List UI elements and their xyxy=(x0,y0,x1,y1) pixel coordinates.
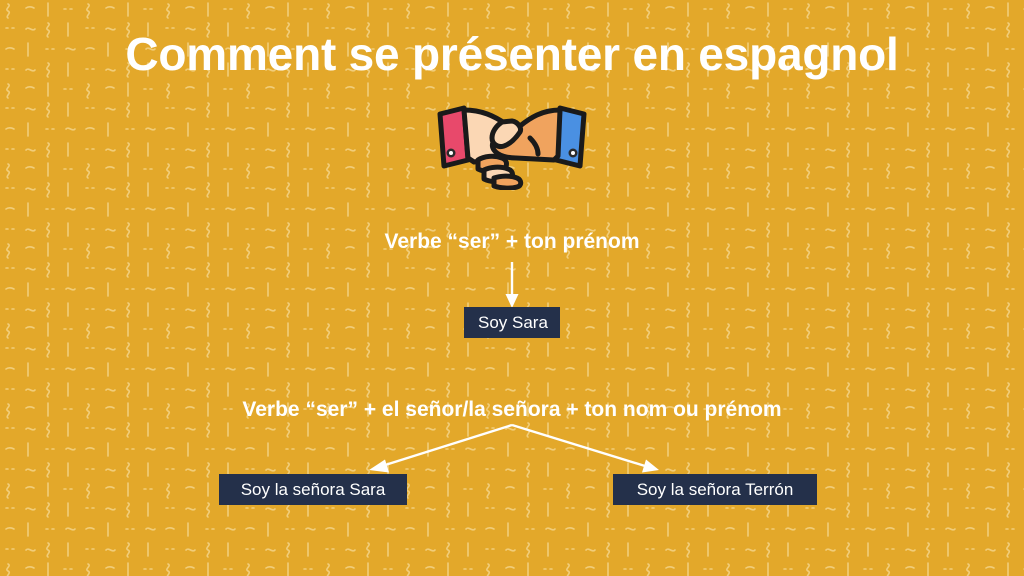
rule-1-heading: Verbe “ser” + ton prénom xyxy=(0,228,1024,256)
arrow-down-right-to-senora-terron xyxy=(512,425,659,473)
background-pattern xyxy=(0,0,1024,576)
arrow-down-left-to-senora-sara xyxy=(369,425,512,473)
handshake-icon xyxy=(434,98,590,190)
page-title: Comment se présenter en espagnol xyxy=(0,26,1024,82)
example-box-soy-sara: Soy Sara xyxy=(464,307,560,338)
slide-canvas: Comment se présenter en espagnol V xyxy=(0,0,1024,576)
example-box-senora-terron: Soy la señora Terrón xyxy=(613,474,817,505)
rule-2-heading: Verbe “ser” + el señor/la señora + ton n… xyxy=(0,396,1024,424)
example-box-senora-sara: Soy la señora Sara xyxy=(219,474,407,505)
arrow-connectors xyxy=(0,0,1024,576)
arrow-down-to-soy-sara xyxy=(506,262,519,308)
